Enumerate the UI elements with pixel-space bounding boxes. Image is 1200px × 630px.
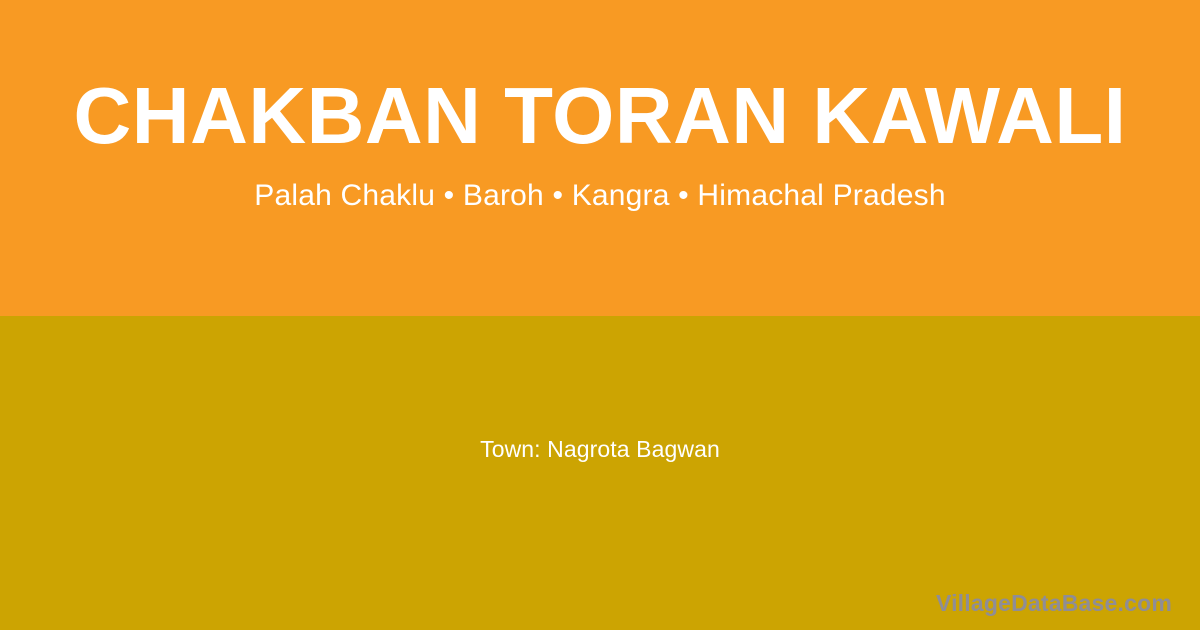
- village-info-banner: CHAKBAN TORAN KAWALI Palah Chaklu • Baro…: [0, 0, 1200, 630]
- page-title: CHAKBAN TORAN KAWALI: [0, 76, 1200, 156]
- site-watermark: VillageDataBase.com: [936, 591, 1172, 616]
- location-breadcrumb: Palah Chaklu • Baroh • Kangra • Himachal…: [0, 178, 1200, 214]
- town-label: Town: Nagrota Bagwan: [480, 435, 720, 465]
- detail-block: Town: Nagrota Bagwan: [0, 316, 1200, 630]
- header-block: CHAKBAN TORAN KAWALI Palah Chaklu • Baro…: [0, 0, 1200, 316]
